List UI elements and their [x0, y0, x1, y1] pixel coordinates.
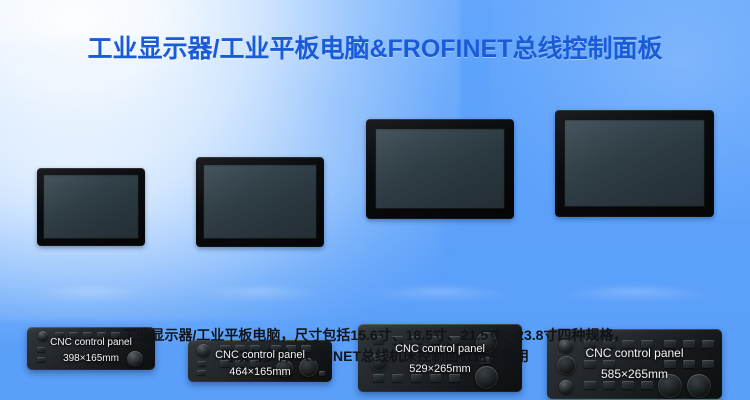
panel-knob[interactable] [475, 366, 498, 389]
panel-knob[interactable] [559, 380, 573, 394]
panel-knob[interactable] [687, 374, 711, 398]
panel-button[interactable] [449, 374, 460, 382]
banner-caption: 工业显示器/工业平板电脑，尺寸包括15.6寸、18.5寸、21.5寸、23.8寸… [0, 325, 750, 367]
monitor-unit [37, 168, 145, 246]
display-screen [375, 128, 505, 209]
monitor-unit [196, 157, 324, 247]
product-banner: 工业显示器/工业平板电脑&FROFINET总线控制面板 CNC control … [0, 0, 750, 400]
panel-button[interactable] [411, 374, 422, 382]
product-item-4: CNC control panel 585×265mm [547, 110, 722, 292]
display-screen [43, 174, 139, 239]
page-title: 工业显示器/工业平板电脑&FROFINET总线控制面板 [0, 33, 750, 65]
panel-knob[interactable] [658, 374, 682, 398]
product-item-1: CNC control panel 398×165mm [27, 168, 155, 292]
product-item-2: CNC control panel 464×165mm [188, 157, 332, 292]
panel-button[interactable] [641, 381, 653, 389]
panel-button[interactable] [319, 371, 325, 376]
display-screen [564, 119, 705, 207]
panel-button[interactable] [197, 370, 206, 375]
monitor-unit [366, 119, 514, 219]
panel-button[interactable] [392, 374, 403, 382]
caption-line-2: 可以与多种FROFINET总线机床控制面板组合应用 [0, 346, 750, 367]
caption-line-1: 工业显示器/工业平板电脑，尺寸包括15.6寸、18.5寸、21.5寸、23.8寸… [0, 325, 750, 346]
panel-button[interactable] [430, 374, 441, 382]
display-screen [203, 164, 317, 239]
panel-button[interactable] [622, 381, 634, 389]
monitor-unit [555, 110, 714, 217]
panel-button[interactable] [603, 381, 615, 389]
panel-button[interactable] [584, 381, 596, 389]
product-item-3: CNC control panel 529×265mm [358, 119, 522, 292]
panel-button[interactable] [373, 374, 384, 382]
